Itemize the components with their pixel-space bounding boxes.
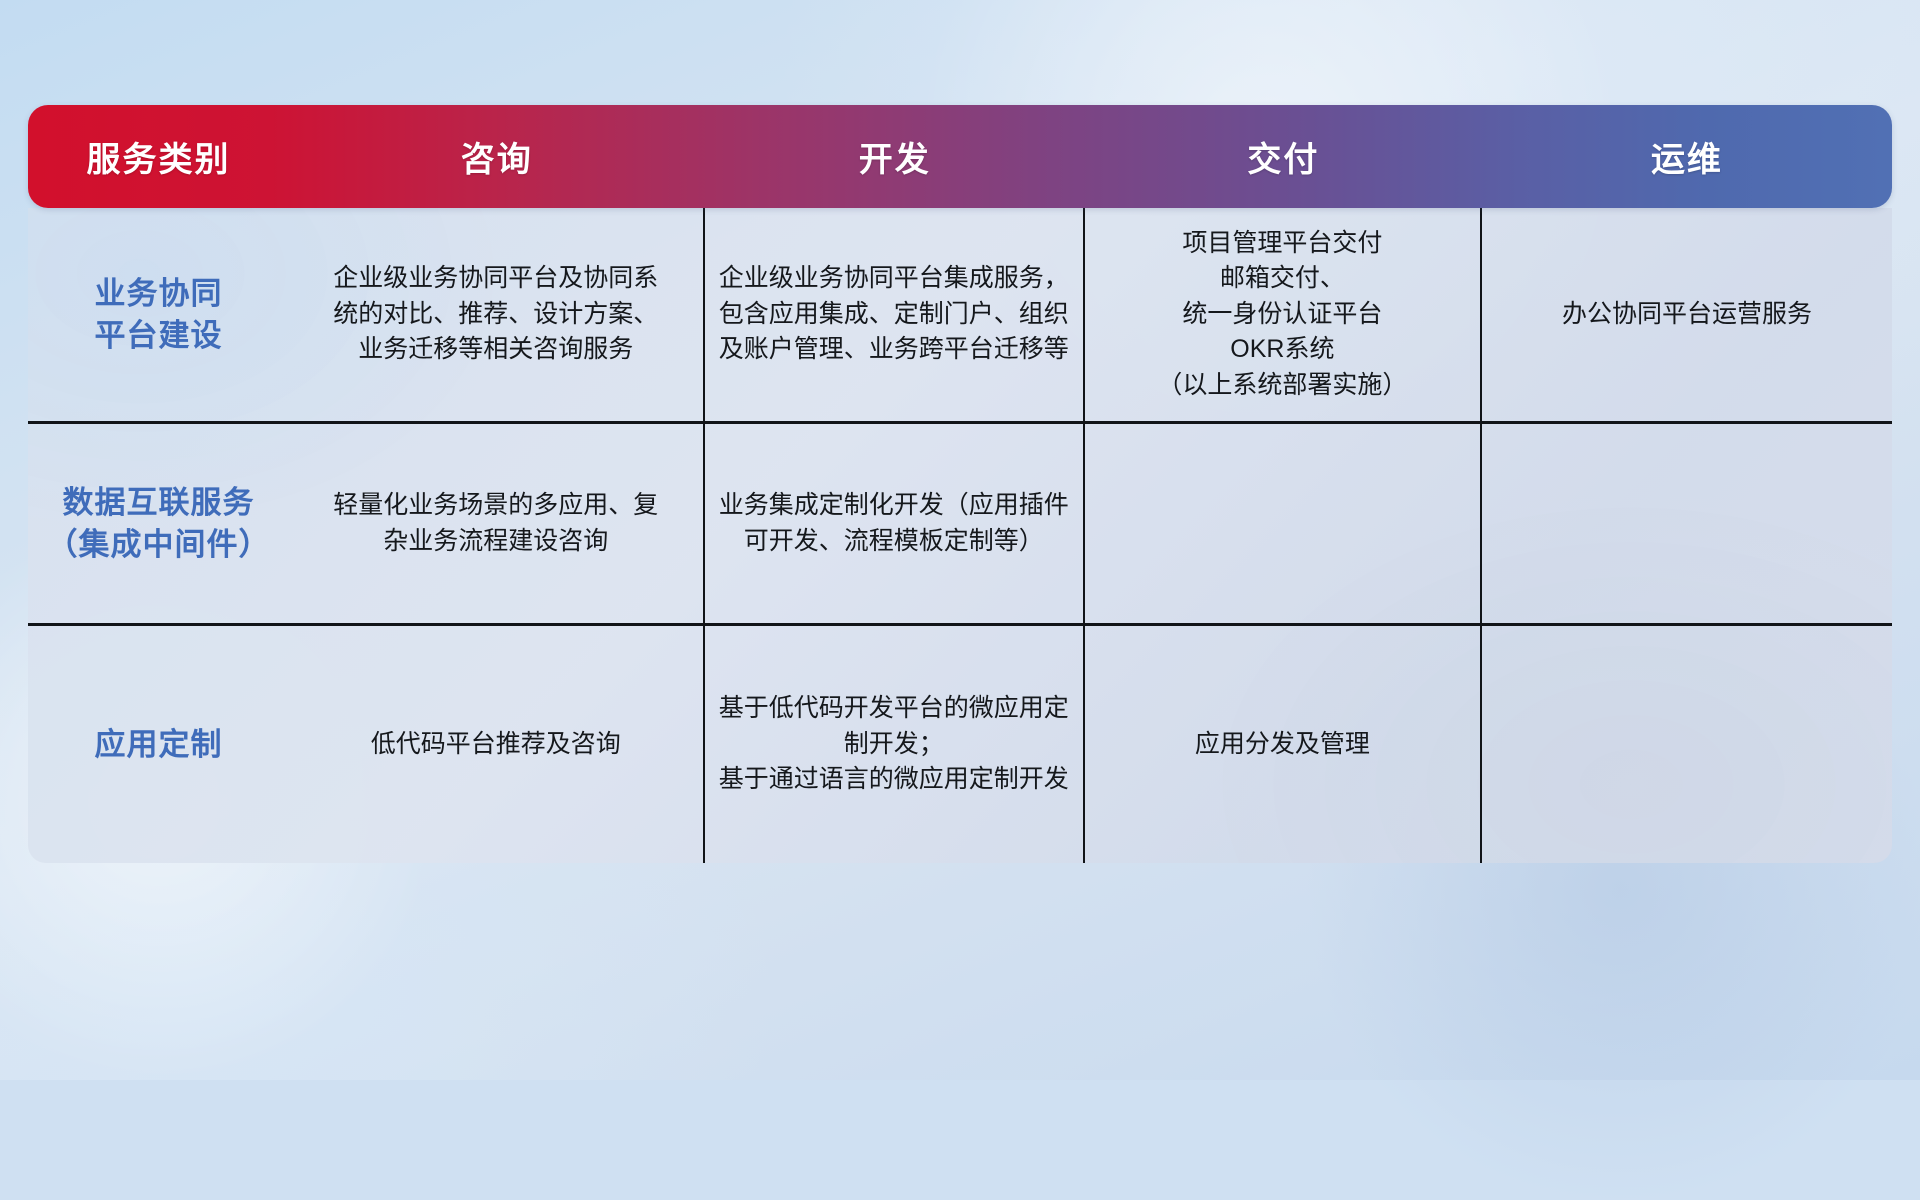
row-category-label: 业务协同 平台建设	[28, 208, 289, 421]
table-body: 业务协同 平台建设 企业级业务协同平台及协同系 统的对比、推荐、设计方案、 业务…	[28, 208, 1892, 863]
table-header-cell-consulting: 咨询	[289, 105, 705, 208]
cell-consulting: 轻量化业务场景的多应用、复 杂业务流程建设咨询	[289, 424, 705, 623]
row-category-label: 应用定制	[28, 626, 289, 863]
cell-delivery	[1085, 424, 1482, 623]
table-header-row: 服务类别 咨询 开发 交付 运维	[28, 105, 1892, 208]
cell-operations: 办公协同平台运营服务	[1482, 208, 1892, 421]
table-row: 数据互联服务 （集成中间件） 轻量化业务场景的多应用、复 杂业务流程建设咨询 业…	[28, 421, 1892, 623]
row-category-label: 数据互联服务 （集成中间件）	[28, 424, 289, 623]
table-header-cell-operations: 运维	[1482, 105, 1892, 208]
cell-development: 企业级业务协同平台集成服务， 包含应用集成、定制门户、组织 及账户管理、业务跨平…	[705, 208, 1085, 421]
table-row: 应用定制 低代码平台推荐及咨询 基于低代码开发平台的微应用定 制开发； 基于通过…	[28, 623, 1892, 863]
cell-delivery: 项目管理平台交付 邮箱交付、 统一身份认证平台 OKR系统 （以上系统部署实施）	[1085, 208, 1482, 421]
table-header-cell-category: 服务类别	[28, 105, 289, 208]
cell-consulting: 企业级业务协同平台及协同系 统的对比、推荐、设计方案、 业务迁移等相关咨询服务	[289, 208, 705, 421]
cell-development: 业务集成定制化开发（应用插件 可开发、流程模板定制等）	[705, 424, 1085, 623]
service-category-table: 服务类别 咨询 开发 交付 运维 业务协同 平台建设 企业级业务协同平台及协同系…	[28, 105, 1892, 863]
table-header-cell-development: 开发	[705, 105, 1085, 208]
cell-consulting: 低代码平台推荐及咨询	[289, 626, 705, 863]
table-header-cell-delivery: 交付	[1085, 105, 1482, 208]
cell-delivery: 应用分发及管理	[1085, 626, 1482, 863]
cell-operations	[1482, 424, 1892, 623]
cell-operations	[1482, 626, 1892, 863]
cell-development: 基于低代码开发平台的微应用定 制开发； 基于通过语言的微应用定制开发	[705, 626, 1085, 863]
table-row: 业务协同 平台建设 企业级业务协同平台及协同系 统的对比、推荐、设计方案、 业务…	[28, 208, 1892, 421]
